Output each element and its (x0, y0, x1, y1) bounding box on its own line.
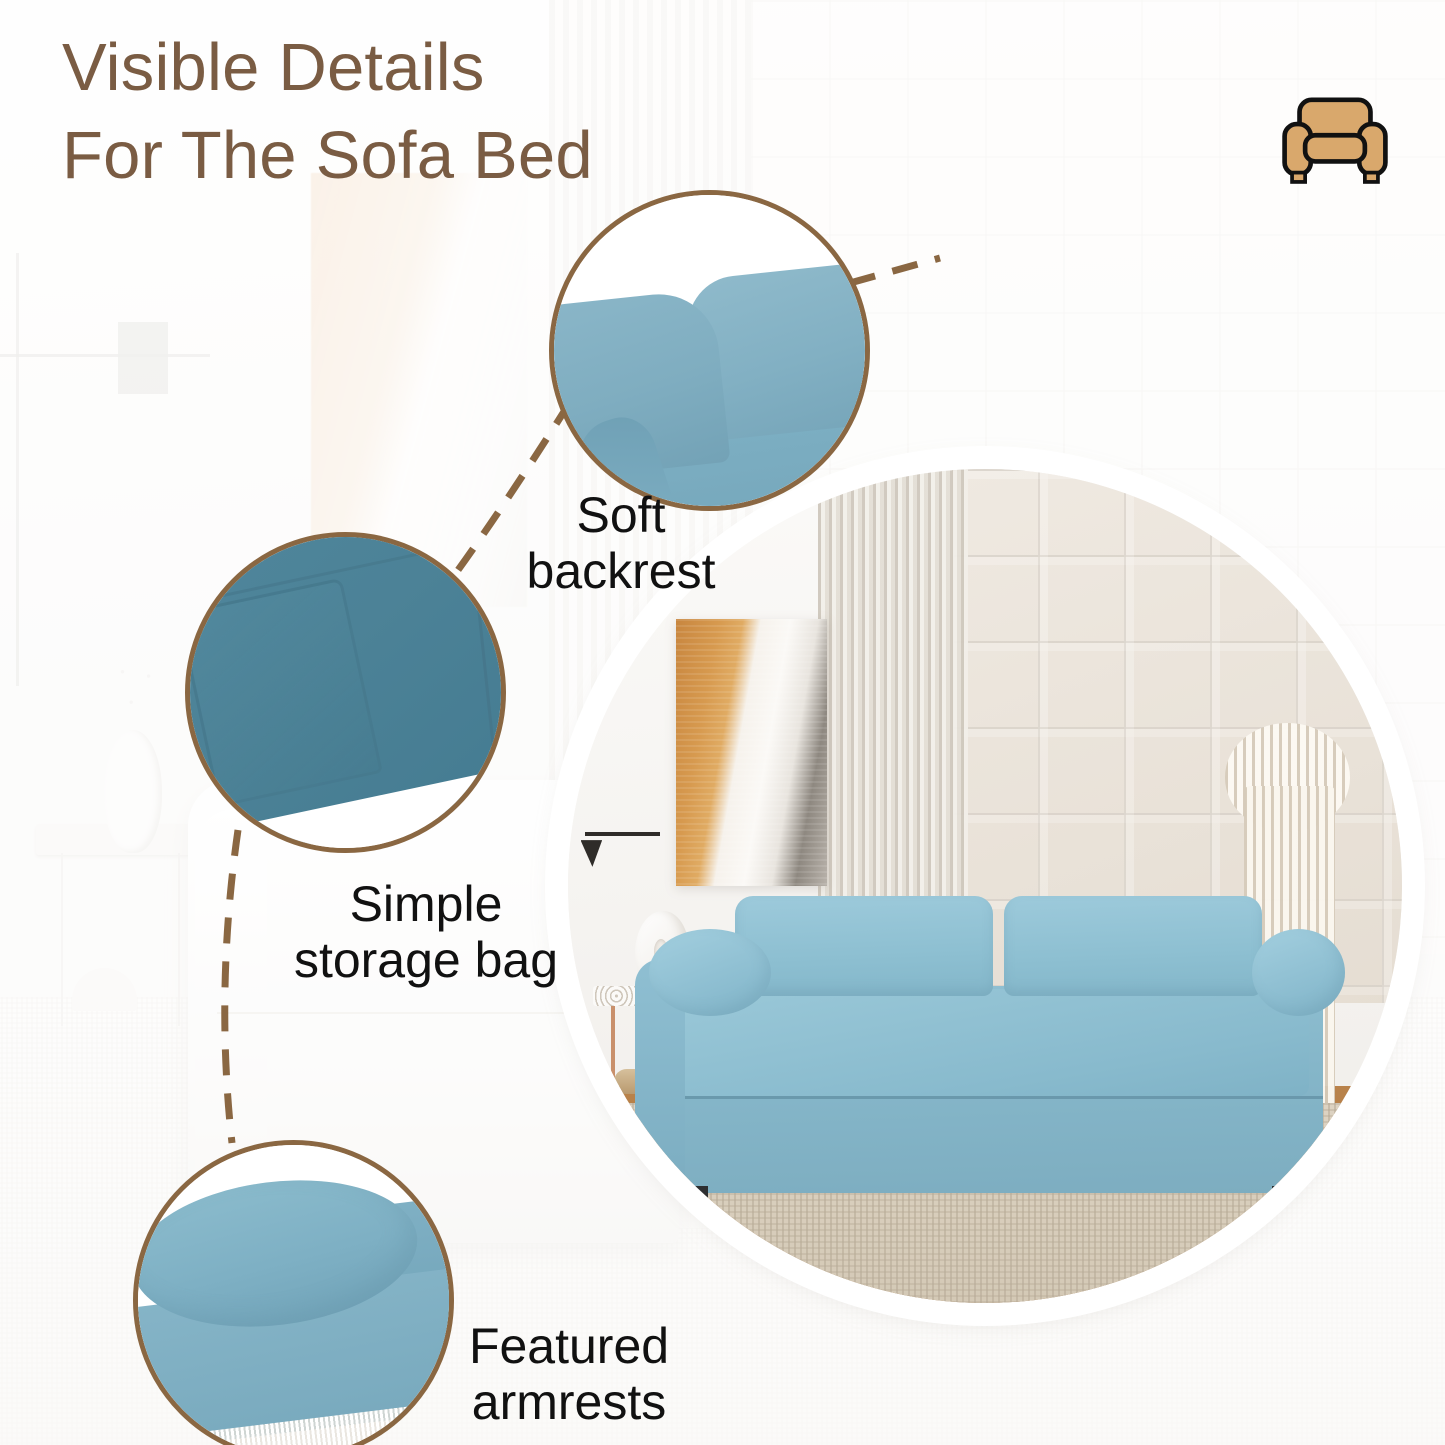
hero-sofa-seat (678, 989, 1309, 1096)
callout-label-soft-backrest: Soft backrest (466, 487, 776, 599)
callout-label-storage-bag: Simple storage bag (246, 876, 606, 988)
product-detail-poster: Visible Details For The Sofa Bed Soft ba… (0, 0, 1445, 1445)
callout-label-featured-armrests: Featured armrests (404, 1318, 734, 1430)
hero-side-table-leg-left (611, 1003, 615, 1111)
hero-wall-art (676, 619, 826, 886)
hero-sofa-foot-left (685, 1186, 708, 1213)
hero-sofa-armrest-left (649, 929, 771, 1016)
hero-sofa-bed (635, 886, 1352, 1220)
hero-sofa-back-cushion-right (1004, 896, 1262, 996)
hero-sconce-arm (585, 832, 660, 836)
hero-sofa-back-cushion-left (735, 896, 993, 996)
hero-sofa-foot-right (1272, 1186, 1295, 1213)
page-title: Visible Details For The Sofa Bed (62, 24, 593, 201)
hero-sofa-armrest-right (1252, 929, 1345, 1016)
hero-sofa-pullout-seam (663, 1096, 1323, 1099)
callout-circle-soft-backrest (549, 190, 870, 511)
hero-fluted-panel (818, 469, 968, 953)
armchair-icon (1279, 92, 1391, 186)
callout-circle-storage-bag (185, 532, 506, 853)
